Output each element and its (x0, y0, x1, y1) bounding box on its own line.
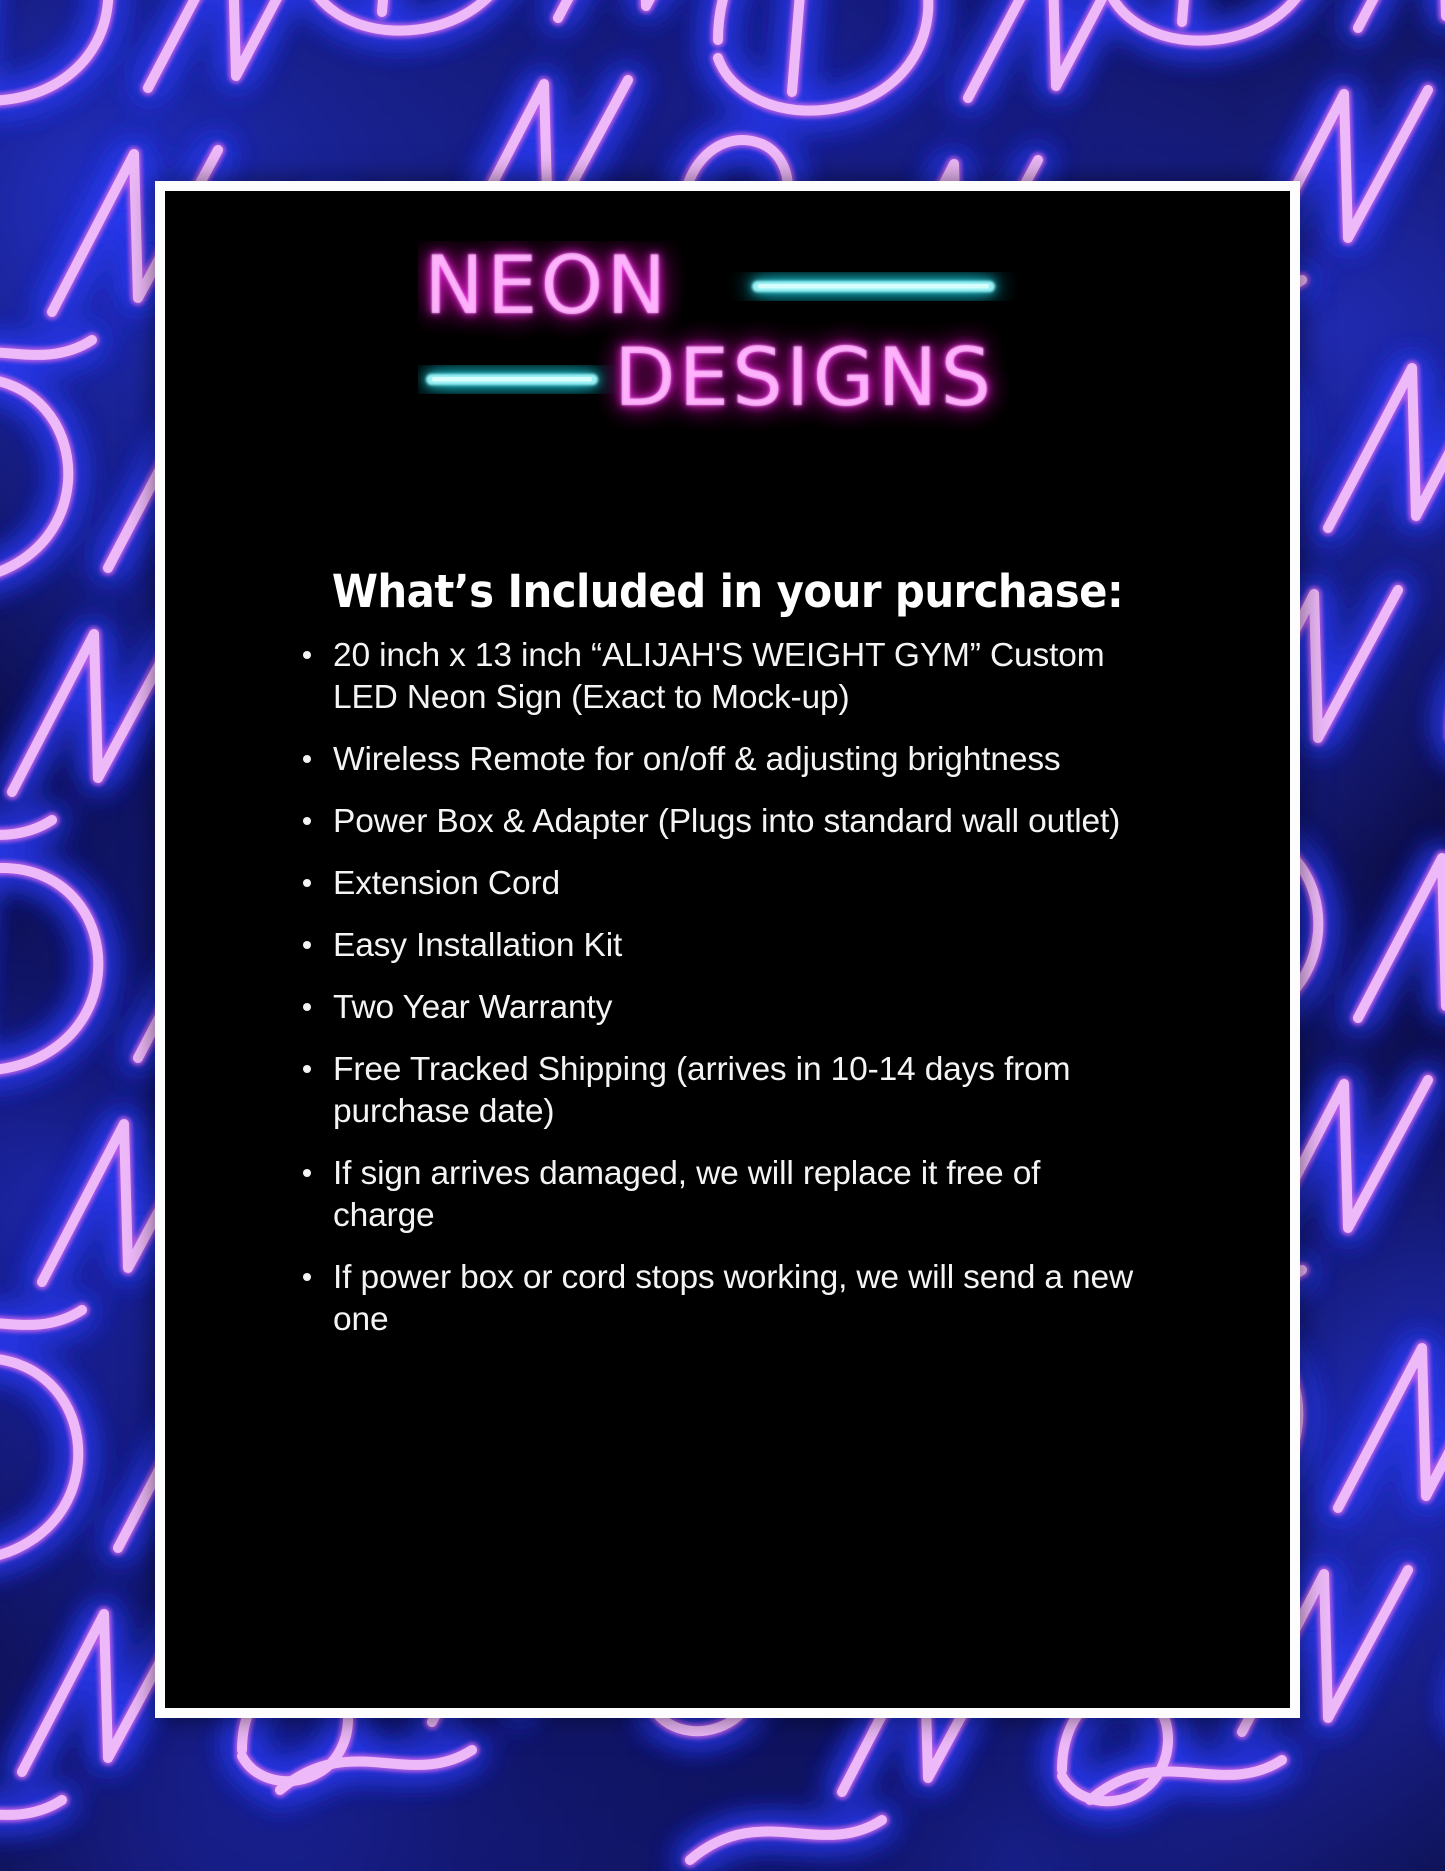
page-title: What’s Included in your purchase: (204, 565, 1250, 618)
list-item-label: 20 inch x 13 inch “ALIJAH'S WEIGHT GYM” … (333, 635, 1135, 719)
list-item-label: If power box or cord stops working, we w… (333, 1257, 1135, 1341)
included-items-list: 20 inch x 13 inch “ALIJAH'S WEIGHT GYM” … (295, 635, 1135, 1361)
list-item-label: Wireless Remote for on/off & adjusting b… (333, 739, 1135, 781)
list-item-label: Free Tracked Shipping (arrives in 10-14 … (333, 1049, 1135, 1133)
bullet-dot-icon (303, 1065, 311, 1073)
list-item: 20 inch x 13 inch “ALIJAH'S WEIGHT GYM” … (295, 635, 1135, 719)
list-item: Easy Installation Kit (295, 925, 1135, 967)
list-item-label: Easy Installation Kit (333, 925, 1135, 967)
bullet-dot-icon (303, 817, 311, 825)
list-item: Free Tracked Shipping (arrives in 10-14 … (295, 1049, 1135, 1133)
list-item: Power Box & Adapter (Plugs into standard… (295, 801, 1135, 843)
bullet-dot-icon (303, 755, 311, 763)
bullet-dot-icon (303, 1169, 311, 1177)
list-item-label: Two Year Warranty (333, 987, 1135, 1029)
list-item-label: If sign arrives damaged, we will replace… (333, 1153, 1135, 1237)
list-item: If power box or cord stops working, we w… (295, 1257, 1135, 1341)
list-item: Two Year Warranty (295, 987, 1135, 1029)
bullet-dot-icon (303, 651, 311, 659)
list-item: If sign arrives damaged, we will replace… (295, 1153, 1135, 1237)
list-item-label: Power Box & Adapter (Plugs into standard… (333, 801, 1135, 843)
bullet-dot-icon (303, 941, 311, 949)
promo-page: NEON DESIGNS (0, 0, 1445, 1871)
bullet-dot-icon (303, 1273, 311, 1281)
bullet-dot-icon (303, 1003, 311, 1011)
content-card: NEON DESIGNS (165, 191, 1290, 1708)
list-item-label: Extension Cord (333, 863, 1135, 905)
list-item: Extension Cord (295, 863, 1135, 905)
list-item: Wireless Remote for on/off & adjusting b… (295, 739, 1135, 781)
bullet-dot-icon (303, 879, 311, 887)
neon-designs-logo: NEON DESIGNS (165, 241, 1290, 441)
